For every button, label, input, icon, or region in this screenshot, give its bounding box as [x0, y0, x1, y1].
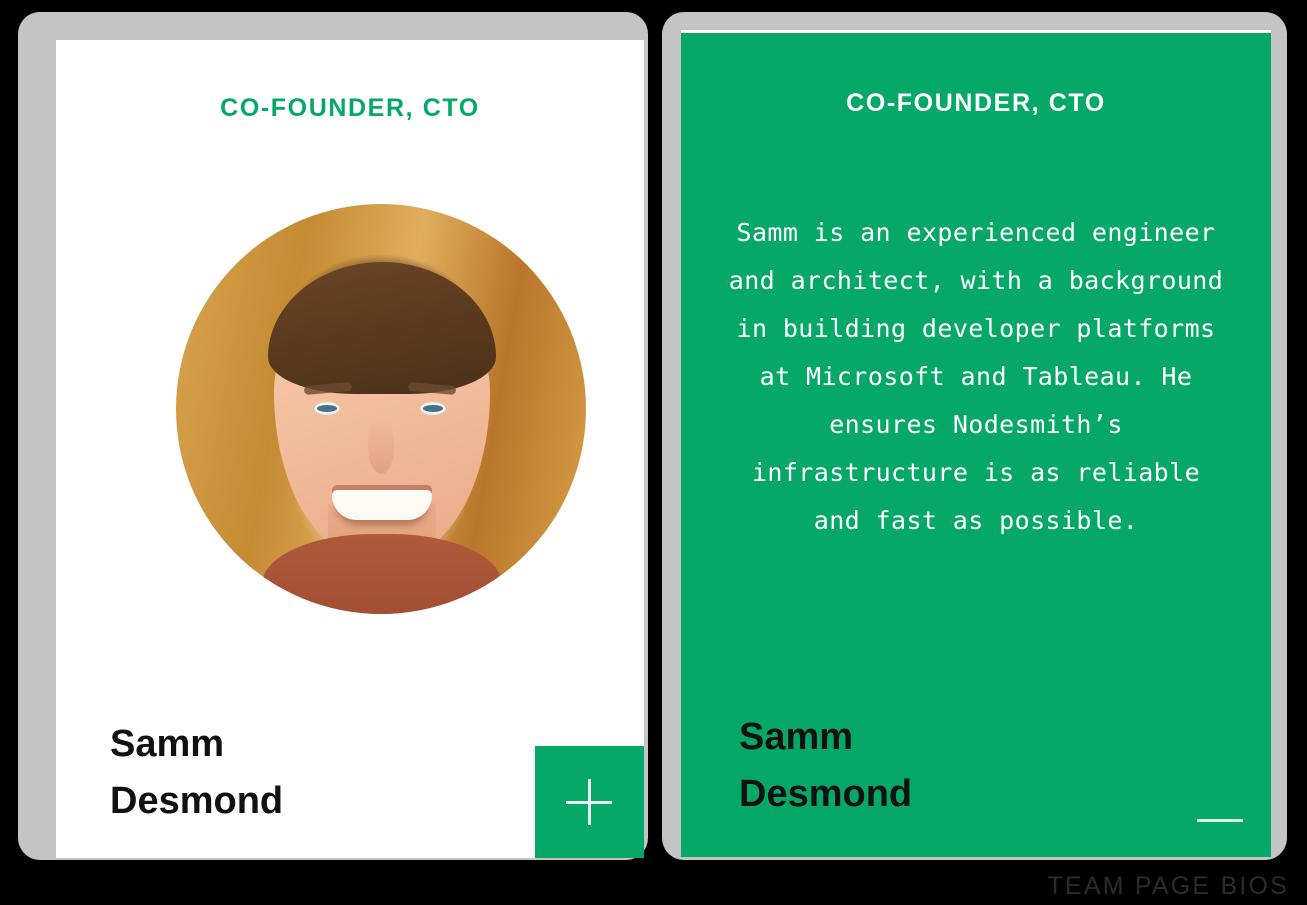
avatar-eye-right — [420, 402, 446, 415]
back-card-name: Samm Desmond — [739, 709, 1139, 823]
avatar-nose — [368, 420, 394, 474]
back-card-name-line1: Samm — [739, 709, 1139, 766]
team-card-back-content: CO-FOUNDER, CTO Samm is an experienced e… — [681, 30, 1271, 857]
team-card-front-content: CO-FOUNDER, CTO Samm Desmond — [56, 40, 644, 858]
screenshot-stage: CO-FOUNDER, CTO Samm Desmond — [0, 0, 1307, 905]
plus-icon[interactable] — [535, 746, 644, 858]
plus-icon-vertical-bar — [588, 779, 591, 825]
front-card-name: Samm Desmond — [110, 716, 530, 830]
watermark-label: TEAM PAGE BIOS — [1048, 872, 1290, 901]
back-card-bio-text: Samm is an experienced engineer and arch… — [725, 209, 1227, 545]
back-card-role-label: CO-FOUNDER, CTO — [681, 89, 1271, 118]
avatar-eye-left — [314, 402, 340, 415]
minus-icon-horizontal-bar — [1197, 819, 1243, 822]
front-card-name-line2: Desmond — [110, 773, 530, 830]
back-card-name-line2: Desmond — [739, 766, 1139, 823]
front-card-name-line1: Samm — [110, 716, 530, 773]
minus-icon[interactable] — [1176, 763, 1266, 853]
avatar — [176, 204, 586, 614]
team-card-back[interactable]: CO-FOUNDER, CTO Samm is an experienced e… — [662, 12, 1287, 860]
avatar-hair — [268, 262, 496, 394]
avatar-mouth — [332, 490, 432, 520]
front-card-role-label: CO-FOUNDER, CTO — [56, 94, 644, 123]
avatar-shirt — [262, 534, 502, 614]
team-card-front[interactable]: CO-FOUNDER, CTO Samm Desmond — [18, 12, 648, 860]
